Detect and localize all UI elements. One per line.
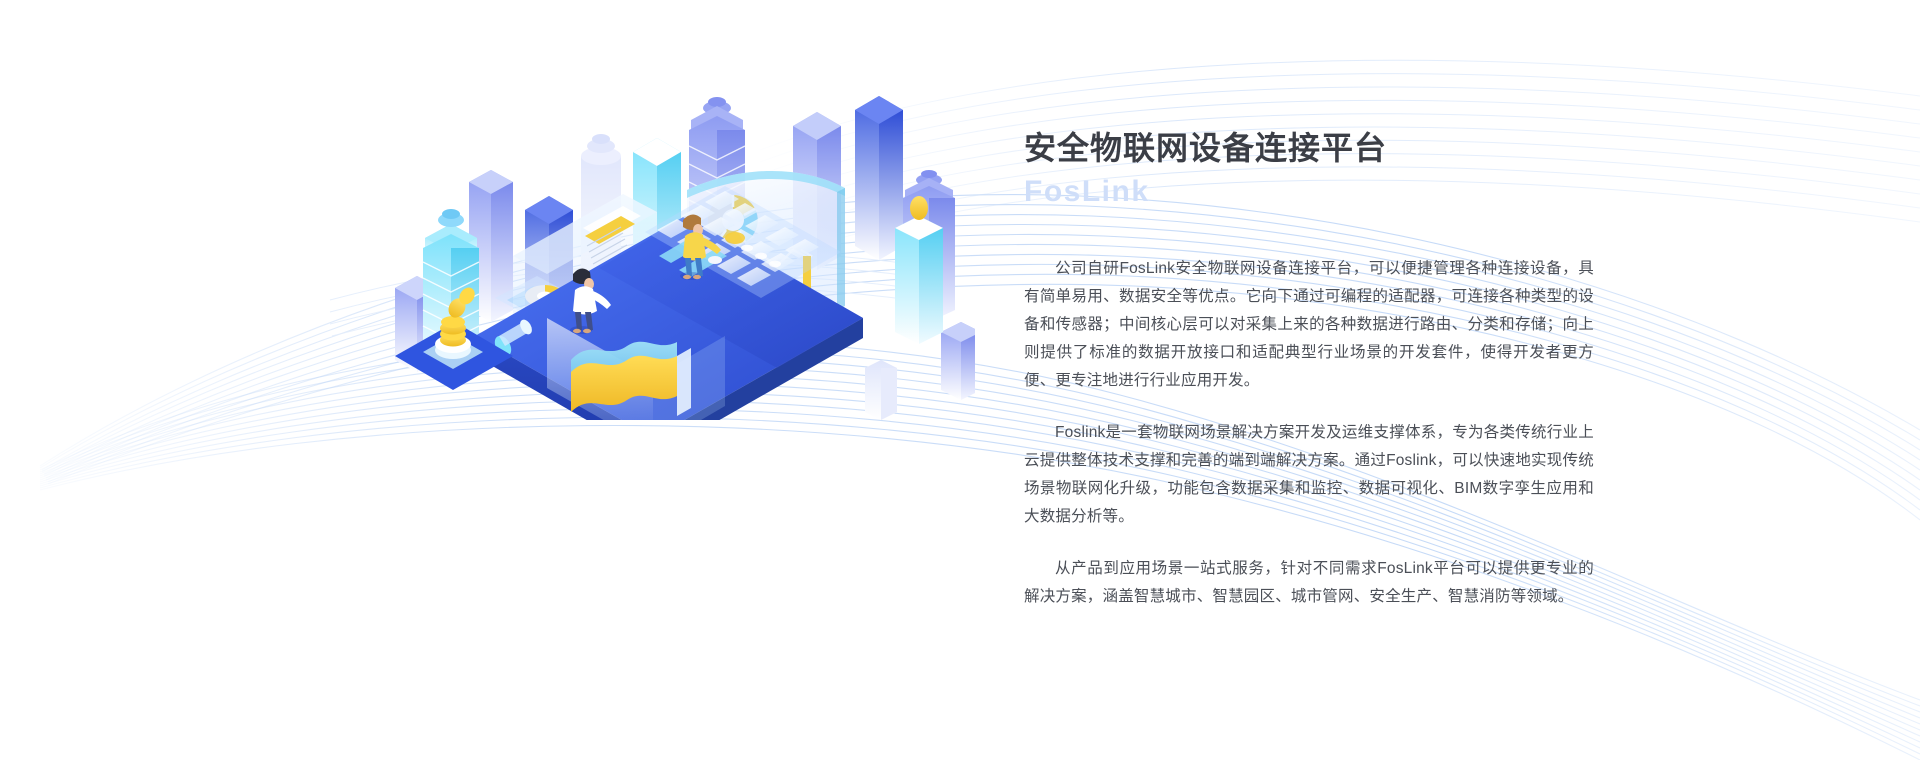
page-subtitle: FosLink (1024, 172, 1594, 211)
description-block: 公司自研FosLink安全物联网设备连接平台，可以便捷管理各种连接设备，具有简单… (1024, 255, 1594, 611)
hero-banner: 安全物联网设备连接平台 FosLink 公司自研FosLink安全物联网设备连接… (0, 0, 1920, 760)
hero-content: 安全物联网设备连接平台 FosLink 公司自研FosLink安全物联网设备连接… (1024, 128, 1594, 611)
paragraph-2: Foslink是一套物联网场景解决方案开发及运维支撑体系，专为各类传统行业上云提… (1024, 419, 1594, 531)
paragraph-3: 从产品到应用场景一站式服务，针对不同需求FosLink平台可以提供更专业的解决方… (1024, 555, 1594, 611)
iot-platform-illustration (395, 60, 975, 420)
page-title: 安全物联网设备连接平台 (1024, 128, 1594, 168)
paragraph-1: 公司自研FosLink安全物联网设备连接平台，可以便捷管理各种连接设备，具有简单… (1024, 255, 1594, 395)
